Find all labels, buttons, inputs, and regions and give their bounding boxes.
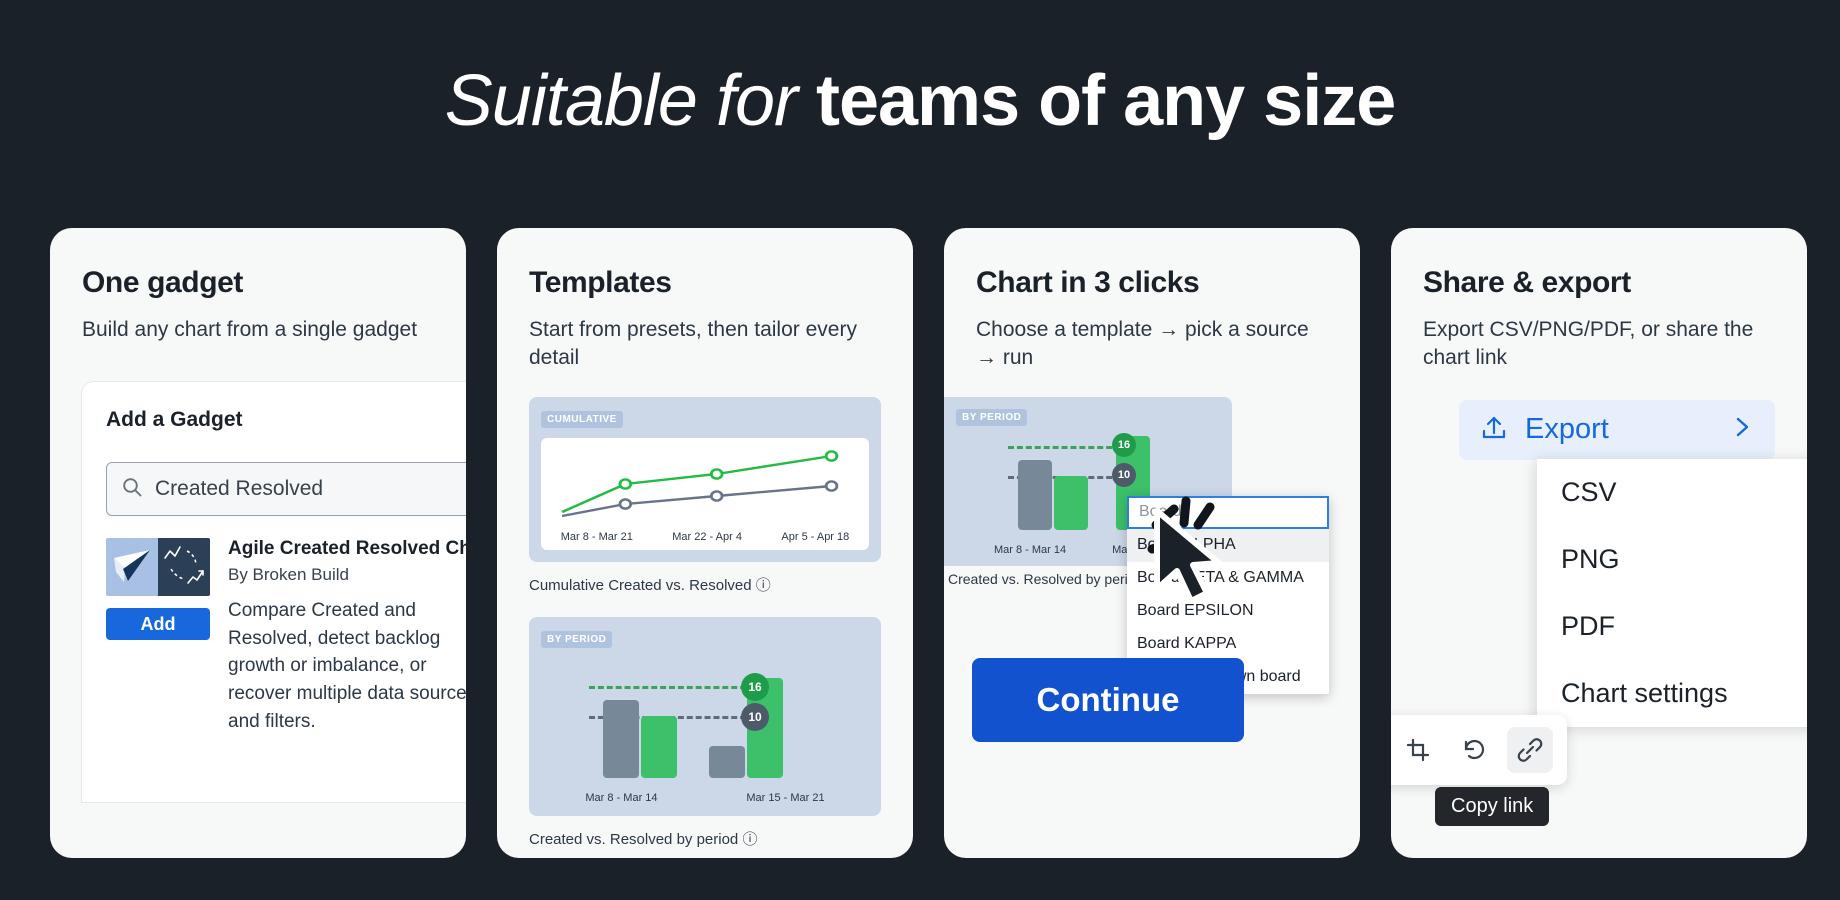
- cumulative-caption-row: Cumulative Created vs. Resolved ⓘ: [497, 574, 913, 595]
- cumulative-line-svg: [541, 438, 869, 524]
- x-tick: Mar 22 - Apr 4: [672, 531, 742, 543]
- bar-resolved-p1: [641, 716, 677, 778]
- card-chart-in-3-clicks: Chart in 3 clicks Choose a template → pi…: [944, 228, 1360, 858]
- target-line-green: [589, 686, 755, 689]
- export-menu: CSV PNG PDF Chart settings: [1537, 459, 1807, 727]
- crop-icon[interactable]: [1395, 727, 1441, 773]
- card-three-header: Chart in 3 clicks Choose a template → pi…: [944, 228, 1360, 373]
- by-period-chart: 16 10 Mar 8 - Mar 14 Mar 15 - Mar 21: [541, 654, 869, 804]
- bar-label-10: 10: [741, 703, 769, 731]
- card-three-body: BY PERIOD 16 10 Mar 8 - Mar 14 Mar 15 - …: [944, 397, 1360, 858]
- cumulative-x-axis: Mar 8 - Mar 21 Mar 22 - Apr 4 Apr 5 - Ap…: [541, 531, 869, 543]
- link-icon[interactable]: [1507, 727, 1553, 773]
- template-badge-by-period: BY PERIOD: [541, 631, 612, 648]
- card-one-body: Add a Gadget Created Resolved: [50, 368, 466, 858]
- template-badge-cumulative: CUMULATIVE: [541, 411, 623, 428]
- by-period-caption-row: Created vs. Resolved by period ⓘ: [497, 828, 913, 849]
- copy-link-tooltip: Copy link: [1435, 787, 1549, 826]
- click-burst-icon: [1134, 487, 1254, 597]
- x-tick: Mar 8 - Mar 21: [561, 531, 633, 543]
- card-templates: Templates Start from presets, then tailo…: [497, 228, 913, 858]
- gadget-name: Agile Created Resolved Chart: [228, 538, 466, 560]
- add-gadget-panel: Add a Gadget Created Resolved: [82, 382, 466, 802]
- gadget-description: Compare Created and Resolved, detect bac…: [228, 597, 466, 735]
- bar-label-16: 16: [741, 673, 769, 701]
- page-root: Suitable for teams of any size One gadge…: [0, 0, 1840, 900]
- undo-icon[interactable]: [1451, 727, 1497, 773]
- gadget-left-column: Add: [106, 538, 210, 735]
- info-icon[interactable]: ⓘ: [742, 831, 757, 848]
- card-templates-body: CUMULATIVE: [497, 397, 913, 858]
- card-four-body: Export CSV PNG PDF Chart settings: [1391, 397, 1807, 858]
- search-input-value: Created Resolved: [155, 477, 323, 501]
- template-thumbnails: CUMULATIVE: [497, 397, 913, 858]
- card-templates-subtitle: Start from presets, then tailor every de…: [529, 316, 881, 373]
- menu-item-png[interactable]: PNG: [1537, 526, 1807, 593]
- bar-resolved-p1: [1054, 476, 1088, 530]
- headline-bold: teams of any size: [816, 61, 1395, 141]
- x-tick: Mar 8 - Mar 14: [994, 544, 1066, 556]
- card-templates-title: Templates: [529, 266, 881, 300]
- card-one-header: One gadget Build any chart from a single…: [50, 228, 466, 344]
- chart-glyph-icon: [158, 538, 210, 596]
- card-share-export: Share & export Export CSV/PNG/PDF, or sh…: [1391, 228, 1807, 858]
- gadget-list-item: Add Agile Created Resolved Chart By Brok…: [106, 538, 466, 735]
- preview-caption: Created vs. Resolved by period: [948, 571, 1143, 587]
- card-three-title: Chart in 3 clicks: [976, 266, 1328, 300]
- x-tick: Mar 15 - Mar 21: [746, 792, 824, 804]
- search-input[interactable]: Created Resolved: [106, 462, 466, 516]
- bar-created-p1: [1018, 460, 1052, 530]
- card-one-gadget: One gadget Build any chart from a single…: [50, 228, 466, 858]
- info-icon[interactable]: ⓘ: [756, 577, 771, 594]
- continue-button[interactable]: Continue: [972, 658, 1244, 742]
- card-templates-header: Templates Start from presets, then tailo…: [497, 228, 913, 373]
- template-thumb-cumulative[interactable]: CUMULATIVE: [497, 397, 913, 562]
- export-button-label: Export: [1525, 413, 1713, 446]
- page-title: Suitable for teams of any size: [0, 62, 1840, 141]
- x-tick: Mar 8 - Mar 14: [585, 792, 657, 804]
- headline-italic: Suitable for: [445, 61, 797, 141]
- card-four-title: Share & export: [1423, 266, 1775, 300]
- bar-created-p2: [709, 746, 745, 778]
- card-three-subtitle: Choose a template → pick a source → run: [976, 316, 1328, 373]
- menu-item-csv[interactable]: CSV: [1537, 459, 1807, 526]
- preview-badge: BY PERIOD: [956, 409, 1027, 426]
- feature-cards: One gadget Build any chart from a single…: [50, 228, 1807, 858]
- gadget-info: Agile Created Resolved Chart By Broken B…: [228, 538, 466, 735]
- x-tick: Apr 5 - Apr 18: [781, 531, 849, 543]
- card-one-subtitle: Build any chart from a single gadget: [82, 316, 434, 344]
- chart-toolbar: [1391, 715, 1567, 785]
- template-thumb-by-period[interactable]: BY PERIOD 16 10: [497, 617, 913, 816]
- bar-label-16: 16: [1112, 433, 1136, 457]
- paper-plane-icon: [106, 538, 158, 596]
- add-gadget-heading: Add a Gadget: [106, 408, 466, 432]
- chevron-right-icon: [1729, 414, 1755, 445]
- cumulative-caption: Cumulative Created vs. Resolved: [529, 577, 752, 594]
- card-four-subtitle: Export CSV/PNG/PDF, or share the chart l…: [1423, 316, 1775, 373]
- search-icon: [121, 476, 143, 503]
- export-button[interactable]: Export: [1459, 400, 1775, 460]
- dropdown-option-board-kappa[interactable]: Board KAPPA: [1127, 628, 1329, 661]
- gadget-author: By Broken Build: [228, 565, 466, 585]
- add-gadget-button[interactable]: Add: [106, 608, 210, 640]
- by-period-x-axis: Mar 8 - Mar 14 Mar 15 - Mar 21: [541, 792, 869, 804]
- bar-created-p1: [603, 700, 639, 778]
- card-one-title: One gadget: [82, 266, 434, 300]
- menu-item-pdf[interactable]: PDF: [1537, 593, 1807, 660]
- gadget-app-icon: [106, 538, 210, 596]
- card-four-header: Share & export Export CSV/PNG/PDF, or sh…: [1391, 228, 1807, 373]
- cumulative-chart: Mar 8 - Mar 21 Mar 22 - Apr 4 Apr 5 - Ap…: [541, 438, 869, 550]
- bar-label-10: 10: [1112, 463, 1136, 487]
- by-period-caption: Created vs. Resolved by period: [529, 831, 738, 848]
- menu-item-chart-settings[interactable]: Chart settings: [1537, 660, 1807, 727]
- dropdown-option-board-epsilon[interactable]: Board EPSILON: [1127, 595, 1329, 628]
- upload-icon: [1479, 412, 1509, 447]
